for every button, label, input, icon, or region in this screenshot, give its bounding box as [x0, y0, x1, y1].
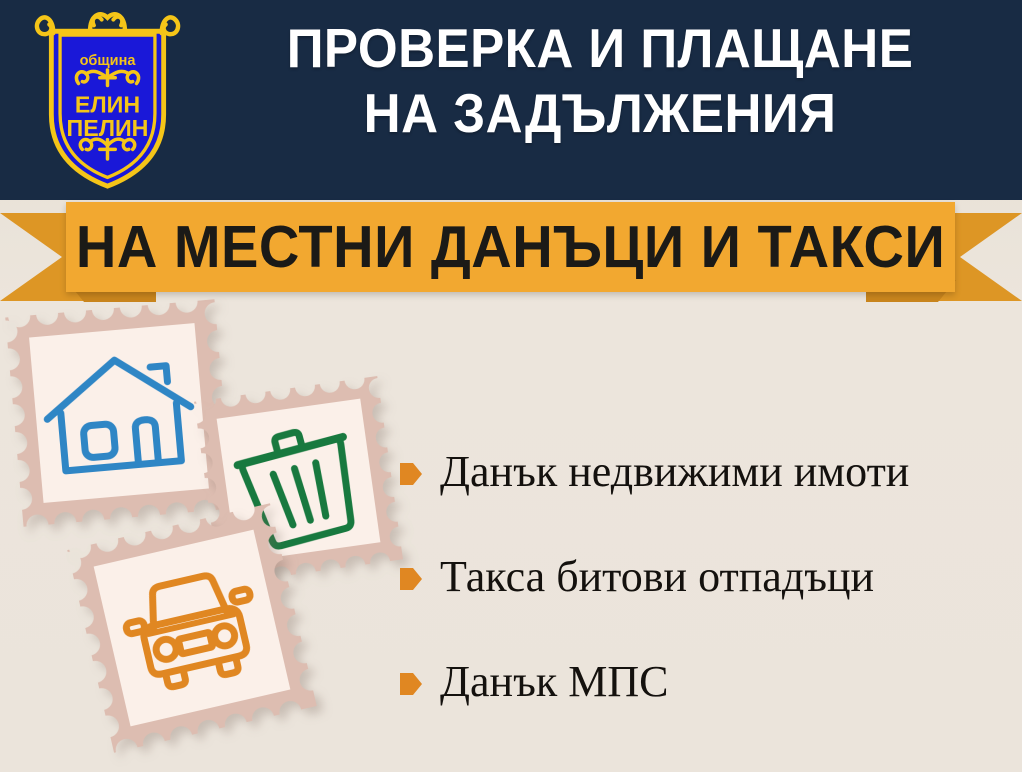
list-item[interactable]: Такса битови отпадъци	[400, 525, 1015, 630]
crest-name-line1: ЕЛИН	[75, 92, 140, 118]
list-item-label: Данък недвижими имоти	[440, 449, 909, 495]
ribbon-label: НА МЕСТНИ ДАНЪЦИ И ТАКСИ	[76, 218, 945, 277]
tax-type-list: Данък недвижими имоти Такса битови отпад…	[400, 420, 1015, 735]
page-title-line-1: ПРОВЕРКА И ПЛАЩАНЕ	[219, 16, 982, 81]
arrow-bullet-icon	[400, 671, 422, 697]
stamp-card-group	[0, 296, 430, 772]
list-item[interactable]: Данък недвижими имоти	[400, 420, 1015, 525]
page-title: ПРОВЕРКА И ПЛАЩАНЕ НА ЗАДЪЛЖЕНИЯ	[219, 16, 982, 146]
arrow-bullet-icon	[400, 461, 422, 487]
ribbon-main-band: НА МЕСТНИ ДАНЪЦИ И ТАКСИ	[66, 202, 955, 292]
poster-canvas: община ЕЛИН ПЕЛИН	[0, 0, 1022, 772]
list-item-label: Такса битови отпадъци	[440, 554, 874, 600]
arrow-bullet-icon	[400, 566, 422, 592]
list-item-label: Данък МПС	[440, 659, 668, 705]
subtitle-ribbon: НА МЕСТНИ ДАНЪЦИ И ТАКСИ	[0, 196, 1022, 316]
coat-of-arms-icon: община ЕЛИН ПЕЛИН	[30, 8, 185, 190]
page-title-line-2: НА ЗАДЪЛЖЕНИЯ	[219, 81, 982, 146]
header-banner: община ЕЛИН ПЕЛИН	[0, 0, 1022, 200]
crest-top-text: община	[80, 53, 137, 69]
crest-name-line2: ПЕЛИН	[67, 115, 149, 141]
list-item[interactable]: Данък МПС	[400, 630, 1015, 735]
